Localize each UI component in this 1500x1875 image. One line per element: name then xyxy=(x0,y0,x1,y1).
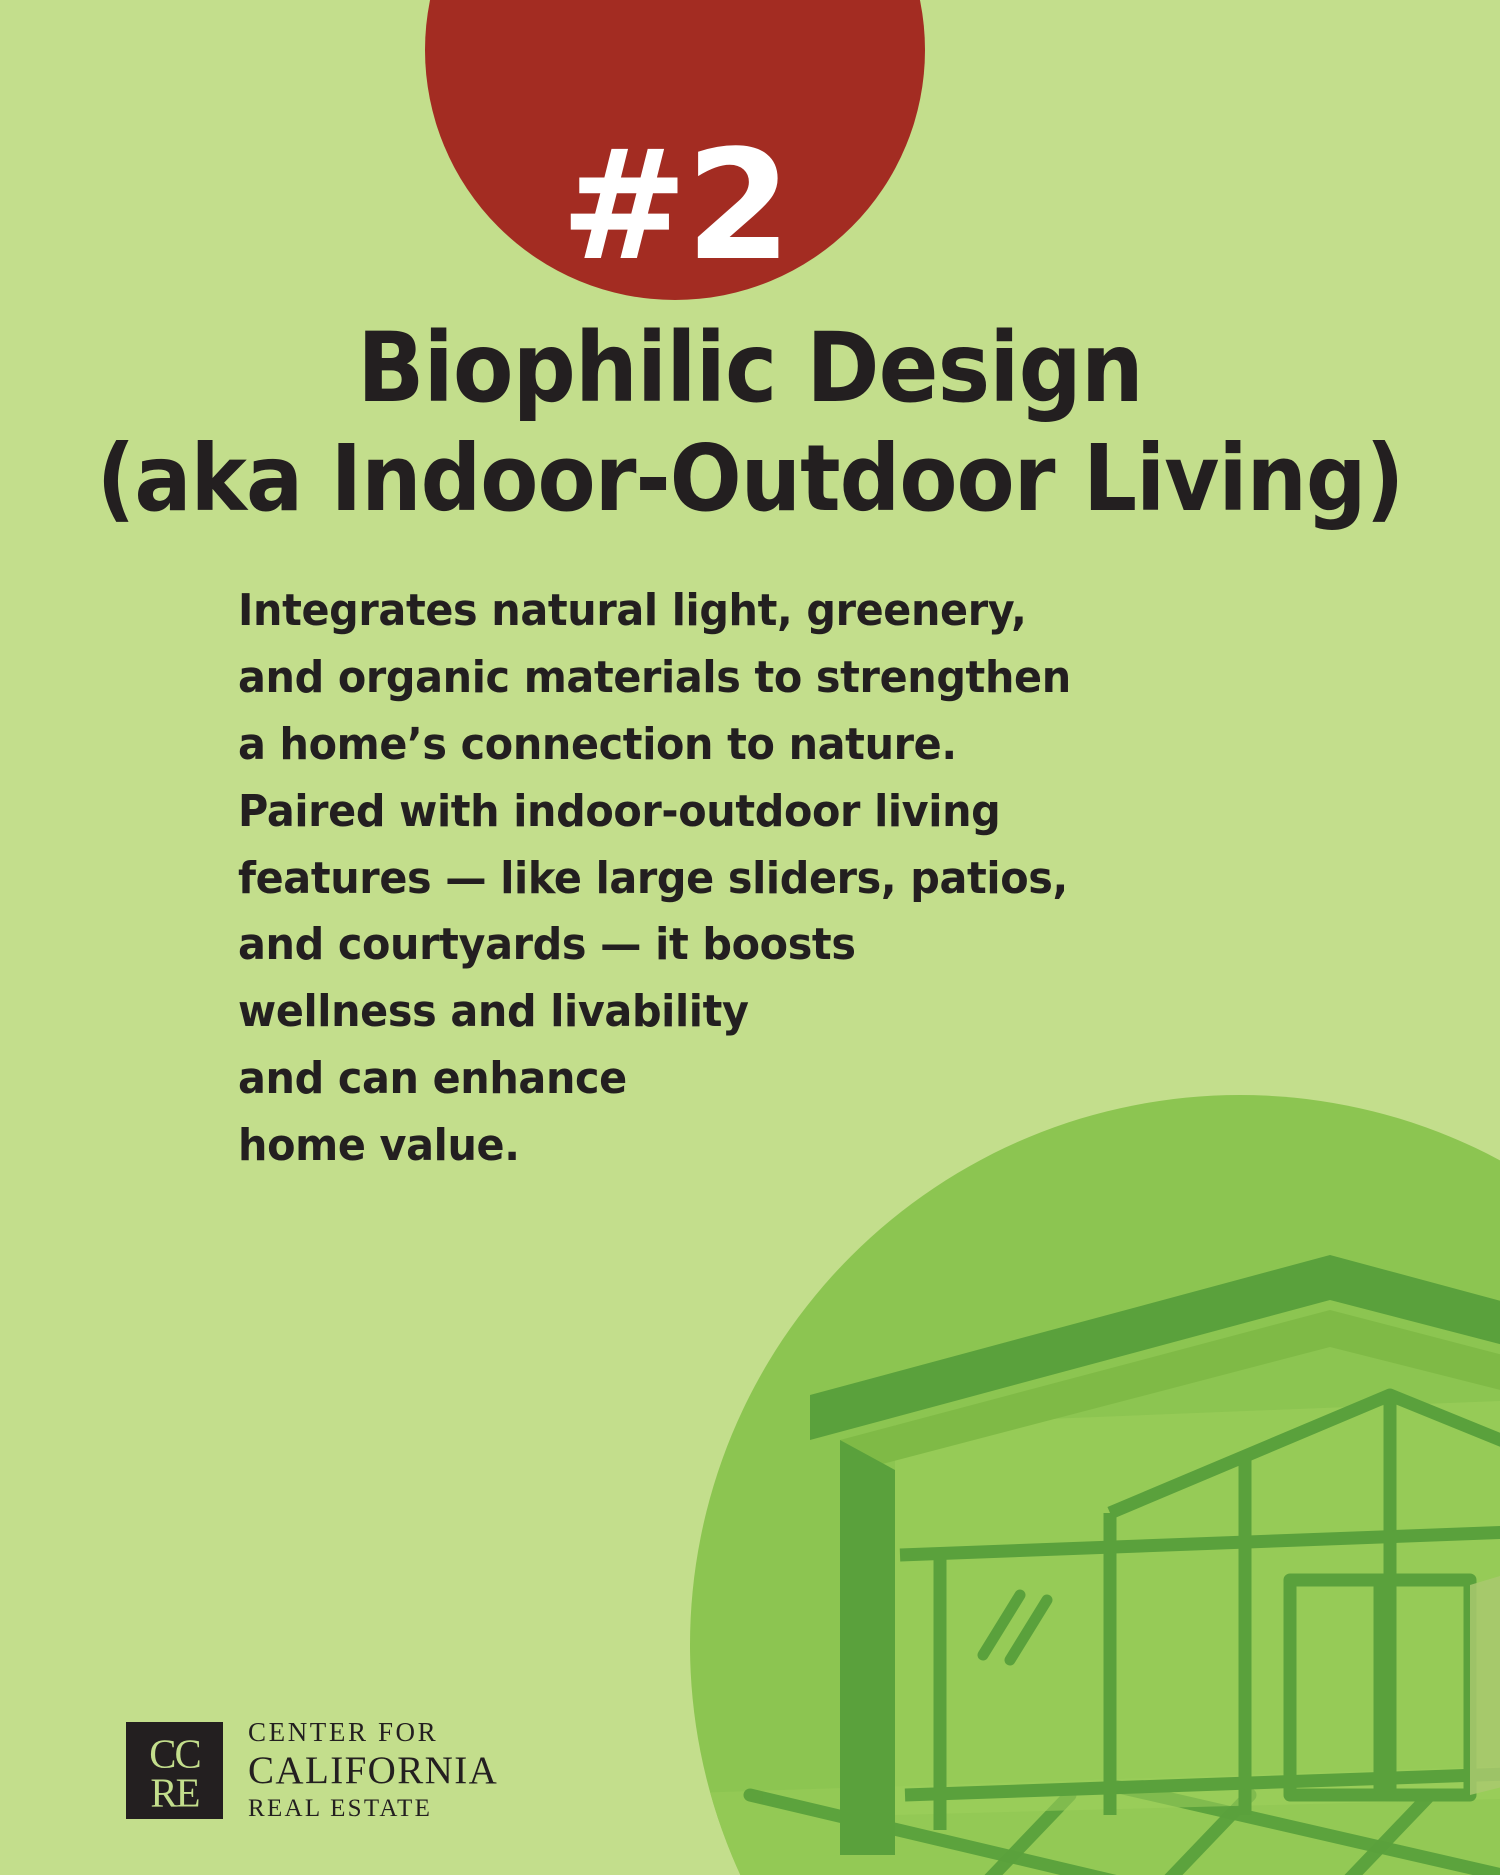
body-line: and organic materials to strengthen xyxy=(238,645,1018,712)
body-line: Integrates natural light, greenery, xyxy=(238,578,1018,645)
body-line: and can enhance xyxy=(238,1046,1018,1113)
logo-line-real-estate: REAL ESTATE xyxy=(248,1793,498,1824)
logo-line-center-for: CENTER FOR xyxy=(248,1716,498,1749)
indoor-outdoor-house-illustration xyxy=(690,1095,1500,1875)
ccre-logo-icon: CC RE xyxy=(126,1722,223,1819)
page-title: Biophilic Design (aka Indoor-Outdoor Liv… xyxy=(0,312,1500,534)
ccre-logo: CC RE CENTER FOR CALIFORNIA REAL ESTATE xyxy=(126,1716,498,1824)
number-badge: #2 xyxy=(425,0,925,300)
body-line: features — like large sliders, patios, xyxy=(238,846,1018,913)
body-line: and courtyards — it boosts xyxy=(238,912,1018,979)
body-line: a home’s connection to nature. xyxy=(238,712,1018,779)
svg-text:RE: RE xyxy=(150,1770,198,1815)
body-line: wellness and livability xyxy=(238,979,1018,1046)
body-line: home value. xyxy=(238,1113,1018,1180)
headline-secondary: (aka Indoor-Outdoor Living) xyxy=(60,425,1440,534)
logo-wordmark: CENTER FOR CALIFORNIA REAL ESTATE xyxy=(248,1716,498,1824)
biophilic-design-card: #2 Biophilic Design (aka Indoor-Outdoor … xyxy=(0,0,1500,1875)
logo-line-california: CALIFORNIA xyxy=(248,1749,498,1793)
body-line: Paired with indoor-outdoor living xyxy=(238,779,1018,846)
body-copy: Integrates natural light, greenery, and … xyxy=(238,578,1068,1180)
badge-number-label: #2 xyxy=(560,130,789,282)
headline-primary: Biophilic Design xyxy=(60,312,1440,425)
